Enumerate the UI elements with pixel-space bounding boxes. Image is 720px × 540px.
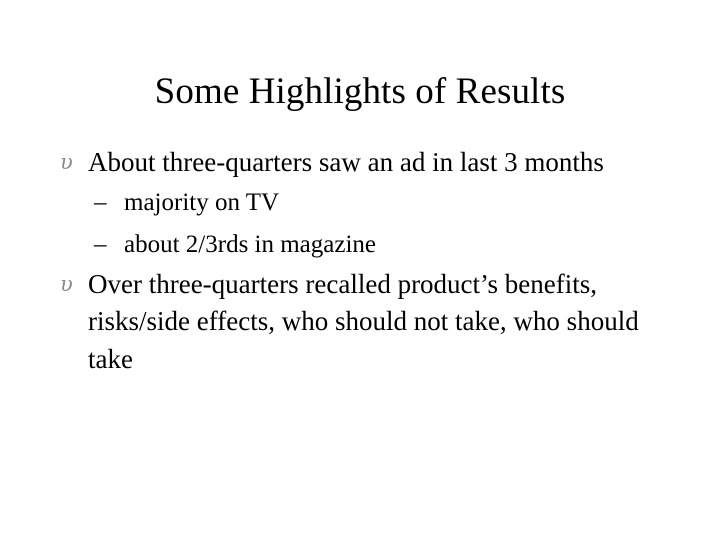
presentation-slide: Some Highlights of Results υ About three…	[0, 0, 720, 540]
list-item-label: majority on TV	[124, 182, 668, 224]
upsilon-bullet-icon: υ	[60, 144, 82, 182]
list-item: υ Over three-quarters recalled product’s…	[56, 266, 668, 379]
dash-bullet-icon: –	[94, 224, 118, 266]
list-item: – majority on TV	[56, 182, 668, 224]
dash-bullet-icon: –	[94, 182, 118, 224]
page-title: Some Highlights of Results	[0, 70, 720, 114]
list-item: υ About three-quarters saw an ad in last…	[56, 144, 668, 182]
upsilon-bullet-icon: υ	[60, 266, 82, 304]
sub-list: – majority on TV – about 2/3rds in magaz…	[56, 182, 668, 266]
list-item-label: Over three-quarters recalled product’s b…	[88, 266, 668, 379]
list-item-label: about 2/3rds in magazine	[124, 224, 668, 266]
list-item-label: About three-quarters saw an ad in last 3…	[88, 144, 668, 182]
slide-body-content: υ About three-quarters saw an ad in last…	[56, 144, 668, 378]
list-item: – about 2/3rds in magazine	[56, 224, 668, 266]
